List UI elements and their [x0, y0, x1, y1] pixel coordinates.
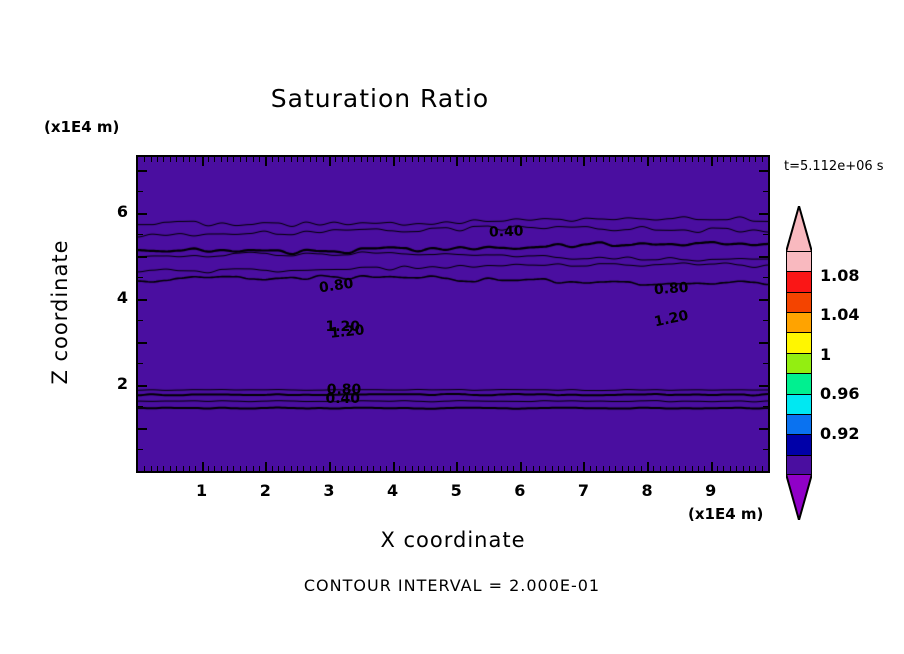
axis-tick: [367, 157, 368, 162]
axis-tick: [622, 466, 623, 471]
x-unit-label: (x1E4 m): [688, 505, 763, 523]
x-tick-label-9: 9: [696, 481, 726, 500]
axis-tick: [138, 449, 143, 450]
axis-tick: [762, 466, 763, 471]
axis-tick: [405, 466, 406, 471]
contour-label-0.80-2: 0.80: [654, 280, 690, 298]
axis-tick: [144, 157, 145, 162]
axis-tick: [660, 157, 661, 162]
colorbar-band-7: [786, 394, 812, 416]
colorbar-band-0: [786, 251, 812, 273]
axis-tick: [558, 157, 559, 162]
axis-tick: [736, 466, 737, 471]
axis-tick: [138, 342, 147, 344]
axis-tick: [259, 157, 260, 162]
axis-tick: [233, 157, 234, 162]
axis-tick: [253, 157, 254, 162]
axis-tick: [482, 466, 483, 471]
axis-tick: [763, 406, 768, 407]
axis-tick: [195, 157, 196, 162]
axis-tick: [303, 466, 304, 471]
axis-tick: [743, 157, 744, 162]
axis-tick: [335, 466, 336, 471]
axis-tick: [545, 157, 546, 162]
axis-tick: [335, 157, 336, 162]
axis-tick: [759, 342, 768, 344]
axis-tick: [138, 363, 143, 364]
axis-tick: [526, 157, 527, 162]
axis-tick: [759, 428, 768, 430]
x-tick-label-7: 7: [568, 481, 598, 500]
axis-tick: [552, 157, 553, 162]
axis-tick: [577, 157, 578, 162]
x-tick-label-8: 8: [632, 481, 662, 500]
axis-tick: [348, 466, 349, 471]
axis-tick: [520, 462, 522, 471]
axis-tick: [138, 256, 147, 258]
axis-tick: [361, 157, 362, 162]
axis-tick: [763, 234, 768, 235]
axis-tick: [176, 157, 177, 162]
x-tick-label-4: 4: [378, 481, 408, 500]
axis-tick: [399, 466, 400, 471]
axis-tick: [730, 157, 731, 162]
axis-tick: [564, 466, 565, 471]
axis-tick: [469, 466, 470, 471]
axis-tick: [380, 466, 381, 471]
axis-tick: [647, 157, 649, 166]
axis-tick: [475, 157, 476, 162]
axis-tick: [749, 466, 750, 471]
axis-tick: [762, 157, 763, 162]
y-tick-label-6: 6: [104, 202, 128, 221]
y-tick-label-4: 4: [104, 288, 128, 307]
axis-tick: [278, 466, 279, 471]
axis-tick: [316, 466, 317, 471]
axis-tick: [138, 428, 147, 430]
axis-tick: [240, 157, 241, 162]
axis-tick: [138, 277, 143, 278]
axis-tick: [759, 170, 768, 172]
z-unit-label: (x1E4 m): [44, 118, 119, 136]
axis-tick: [208, 466, 209, 471]
axis-tick: [323, 157, 324, 162]
axis-tick: [666, 157, 667, 162]
axis-tick: [431, 157, 432, 162]
axis-tick: [763, 363, 768, 364]
axis-tick: [450, 466, 451, 471]
axis-tick: [552, 466, 553, 471]
axis-tick: [291, 466, 292, 471]
axis-tick: [685, 157, 686, 162]
axis-tick: [590, 466, 591, 471]
axis-tick: [698, 466, 699, 471]
axis-tick: [393, 157, 395, 166]
axis-tick: [533, 466, 534, 471]
axis-tick: [743, 466, 744, 471]
axis-tick: [227, 466, 228, 471]
colorbar-label-1.04: 1.04: [820, 305, 859, 324]
y-tick-label-2: 2: [104, 374, 128, 393]
axis-tick: [144, 466, 145, 471]
axis-tick: [157, 466, 158, 471]
axis-tick: [386, 157, 387, 162]
axis-tick: [717, 157, 718, 162]
axis-tick: [666, 466, 667, 471]
x-tick-label-6: 6: [505, 481, 535, 500]
colorbar-label-0.96: 0.96: [820, 384, 859, 403]
axis-tick: [692, 157, 693, 162]
axis-tick: [342, 466, 343, 471]
y-axis-title: Z coordinate: [48, 212, 72, 412]
axis-tick: [501, 157, 502, 162]
colorbar-label-1.08: 1.08: [820, 266, 859, 285]
axis-tick: [412, 466, 413, 471]
axis-tick: [749, 157, 750, 162]
axis-tick: [717, 466, 718, 471]
axis-tick: [641, 466, 642, 471]
axis-tick: [501, 466, 502, 471]
axis-tick: [723, 157, 724, 162]
axis-tick: [195, 466, 196, 471]
axis-tick: [730, 466, 731, 471]
axis-tick: [443, 466, 444, 471]
contour-label-0.40-0: 0.40: [489, 223, 524, 240]
axis-tick: [354, 157, 355, 162]
axis-tick: [138, 385, 147, 387]
x-axis-title: X coordinate: [136, 528, 770, 552]
axis-tick: [494, 466, 495, 471]
axis-tick: [284, 157, 285, 162]
axis-tick: [615, 466, 616, 471]
axis-tick: [622, 157, 623, 162]
axis-tick: [348, 157, 349, 162]
colorbar-label-0.92: 0.92: [820, 424, 859, 443]
axis-tick: [138, 170, 147, 172]
axis-tick: [284, 466, 285, 471]
axis-tick: [759, 213, 768, 215]
axis-tick: [704, 466, 705, 471]
axis-tick: [323, 466, 324, 471]
axis-tick: [711, 462, 713, 471]
axis-tick: [272, 466, 273, 471]
axis-tick: [342, 157, 343, 162]
axis-tick: [539, 157, 540, 162]
axis-tick: [373, 157, 374, 162]
axis-tick: [679, 466, 680, 471]
axis-tick: [763, 320, 768, 321]
axis-tick: [526, 466, 527, 471]
axis-tick: [163, 157, 164, 162]
axis-tick: [673, 157, 674, 162]
axis-tick: [763, 191, 768, 192]
axis-tick: [265, 462, 267, 471]
axis-tick: [151, 157, 152, 162]
axis-tick: [513, 157, 514, 162]
axis-tick: [520, 157, 522, 166]
axis-tick: [513, 466, 514, 471]
axis-tick: [647, 462, 649, 471]
axis-tick: [488, 466, 489, 471]
contour-label-1.20-4: 1.20: [329, 322, 365, 342]
axis-tick: [443, 157, 444, 162]
axis-tick: [469, 157, 470, 162]
axis-tick: [297, 157, 298, 162]
axis-tick: [437, 466, 438, 471]
axis-tick: [628, 157, 629, 162]
axis-tick: [634, 466, 635, 471]
x-tick-label-3: 3: [314, 481, 344, 500]
axis-tick: [233, 466, 234, 471]
axis-tick: [214, 157, 215, 162]
axis-tick: [138, 191, 143, 192]
axis-tick: [259, 466, 260, 471]
axis-tick: [183, 157, 184, 162]
axis-tick: [698, 157, 699, 162]
axis-tick: [310, 466, 311, 471]
axis-tick: [609, 157, 610, 162]
axis-tick: [151, 466, 152, 471]
time-annotation: t=5.112e+06 s: [784, 159, 884, 174]
axis-tick: [564, 157, 565, 162]
axis-tick: [138, 320, 143, 321]
colorbar-band-6: [786, 373, 812, 395]
axis-tick: [303, 157, 304, 162]
axis-tick: [679, 157, 680, 162]
axis-tick: [418, 157, 419, 162]
axis-tick: [456, 462, 458, 471]
axis-tick: [240, 466, 241, 471]
axis-tick: [533, 157, 534, 162]
axis-tick: [424, 157, 425, 162]
axis-tick: [475, 466, 476, 471]
axis-tick: [507, 157, 508, 162]
axis-tick: [463, 157, 464, 162]
axis-tick: [596, 466, 597, 471]
axis-tick: [227, 157, 228, 162]
axis-tick: [202, 462, 204, 471]
axis-tick: [634, 157, 635, 162]
axis-tick: [450, 157, 451, 162]
axis-tick: [412, 157, 413, 162]
axis-tick: [208, 157, 209, 162]
contour-interval-note: CONTOUR INTERVAL = 2.000E-01: [0, 576, 904, 595]
axis-tick: [673, 466, 674, 471]
axis-tick: [361, 466, 362, 471]
axis-tick: [583, 157, 585, 166]
colorbar-top-arrow: [786, 206, 812, 252]
axis-tick: [246, 157, 247, 162]
axis-tick: [278, 157, 279, 162]
axis-tick: [768, 466, 769, 471]
axis-tick: [170, 466, 171, 471]
axis-tick: [253, 466, 254, 471]
axis-tick: [763, 449, 768, 450]
axis-tick: [763, 277, 768, 278]
axis-tick: [437, 157, 438, 162]
axis-tick: [704, 157, 705, 162]
axis-tick: [367, 466, 368, 471]
x-tick-label-5: 5: [441, 481, 471, 500]
axis-tick: [418, 466, 419, 471]
axis-tick: [272, 157, 273, 162]
axis-tick: [291, 157, 292, 162]
axis-tick: [310, 157, 311, 162]
axis-tick: [768, 157, 769, 162]
axis-tick: [354, 466, 355, 471]
axis-tick: [424, 466, 425, 471]
axis-tick: [723, 466, 724, 471]
axis-tick: [393, 462, 395, 471]
axis-tick: [138, 234, 143, 235]
axis-tick: [202, 157, 204, 166]
axis-tick: [246, 466, 247, 471]
axis-tick: [456, 157, 458, 166]
axis-tick: [488, 157, 489, 162]
colorbar-band-8: [786, 414, 812, 436]
colorbar-label-1: 1: [820, 345, 831, 364]
axis-tick: [692, 466, 693, 471]
axis-tick: [711, 157, 713, 166]
colorbar-band-5: [786, 353, 812, 375]
axis-tick: [507, 466, 508, 471]
colorbar-band-9: [786, 434, 812, 456]
contour-label-0.40-7: 0.40: [325, 391, 360, 407]
axis-tick: [577, 466, 578, 471]
axis-tick: [380, 157, 381, 162]
colorbar-bottom-arrow: [786, 474, 812, 520]
axis-tick: [221, 157, 222, 162]
axis-tick: [265, 157, 267, 166]
axis-tick: [558, 466, 559, 471]
colorbar-band-4: [786, 332, 812, 354]
axis-tick: [316, 157, 317, 162]
axis-tick: [329, 462, 331, 471]
axis-tick: [431, 466, 432, 471]
axis-tick: [170, 157, 171, 162]
colorbar: [786, 251, 812, 475]
axis-tick: [373, 466, 374, 471]
axis-tick: [399, 157, 400, 162]
page-title: Saturation Ratio: [0, 84, 760, 113]
axis-tick: [653, 466, 654, 471]
axis-tick: [759, 385, 768, 387]
axis-tick: [297, 466, 298, 471]
axis-tick: [641, 157, 642, 162]
axis-tick: [660, 466, 661, 471]
colorbar-band-2: [786, 292, 812, 314]
axis-tick: [138, 299, 147, 301]
axis-tick: [138, 213, 147, 215]
axis-tick: [545, 466, 546, 471]
axis-tick: [685, 466, 686, 471]
axis-tick: [603, 466, 604, 471]
axis-tick: [183, 466, 184, 471]
axis-tick: [571, 466, 572, 471]
axis-tick: [221, 466, 222, 471]
axis-tick: [653, 157, 654, 162]
axis-tick: [386, 466, 387, 471]
axis-tick: [596, 157, 597, 162]
axis-tick: [583, 462, 585, 471]
axis-tick: [482, 157, 483, 162]
axis-tick: [755, 466, 756, 471]
axis-tick: [609, 466, 610, 471]
axis-tick: [590, 157, 591, 162]
axis-tick: [463, 466, 464, 471]
axis-tick: [176, 466, 177, 471]
axis-tick: [494, 157, 495, 162]
axis-tick: [615, 157, 616, 162]
axis-tick: [539, 466, 540, 471]
x-tick-label-2: 2: [250, 481, 280, 500]
axis-tick: [603, 157, 604, 162]
axis-tick: [405, 157, 406, 162]
axis-tick: [189, 157, 190, 162]
axis-tick: [628, 466, 629, 471]
axis-tick: [157, 157, 158, 162]
axis-tick: [214, 466, 215, 471]
axis-tick: [189, 466, 190, 471]
colorbar-band-3: [786, 312, 812, 334]
axis-tick: [759, 256, 768, 258]
axis-tick: [163, 466, 164, 471]
axis-tick: [329, 157, 331, 166]
axis-tick: [138, 406, 143, 407]
axis-tick: [571, 157, 572, 162]
axis-tick: [736, 157, 737, 162]
axis-tick: [759, 299, 768, 301]
axis-tick: [755, 157, 756, 162]
x-tick-label-1: 1: [187, 481, 217, 500]
colorbar-band-1: [786, 271, 812, 293]
